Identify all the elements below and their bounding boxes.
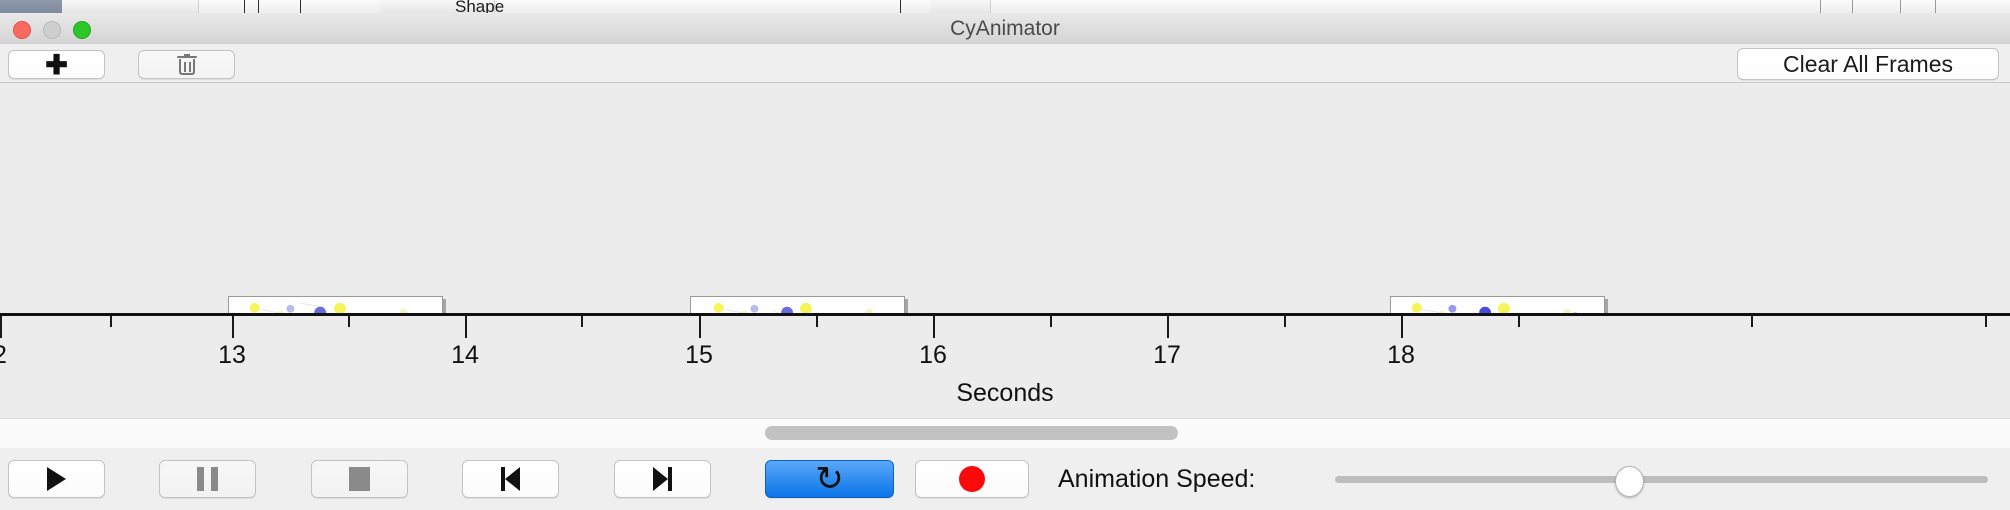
frame-thumbnail-3[interactable]: MCM1 [1390, 296, 1605, 313]
toolbar: ✚ Clear All Frames [0, 44, 2010, 83]
ruler-minor-tick [816, 316, 818, 327]
ruler-minor-tick [348, 316, 350, 327]
ruler-tick-label: 17 [1153, 341, 1181, 370]
clear-all-frames-button[interactable]: Clear All Frames [1737, 48, 1999, 80]
trash-icon [177, 54, 197, 76]
slider-knob[interactable] [1615, 466, 1644, 497]
skip-forward-button[interactable] [614, 460, 711, 498]
delete-frame-button[interactable] [138, 50, 235, 79]
stop-icon [349, 467, 370, 491]
background-divider [258, 0, 259, 13]
network-thumbnail-image: MCM1 [229, 297, 442, 313]
background-divider [900, 0, 901, 13]
ruler-minor-tick [1985, 316, 1987, 327]
scrollbar-thumb[interactable] [765, 426, 1178, 440]
background-window: Shape [0, 0, 2010, 14]
ruler-tick-label: 15 [685, 341, 713, 370]
skip-back-icon [501, 467, 520, 491]
ruler-minor-tick [1751, 316, 1753, 327]
play-button[interactable] [8, 460, 105, 498]
cyanimator-window: Shape CyAnimator ✚ Clear All Frames [0, 0, 2010, 510]
ruler-minor-tick [1284, 316, 1286, 327]
ruler-tick-label: 2 [0, 341, 7, 370]
network-thumbnail-image: MCM1 [1391, 297, 1604, 313]
pause-icon [197, 467, 218, 491]
play-icon [47, 467, 66, 491]
background-divider [300, 0, 301, 13]
timeline-scrollbar[interactable] [0, 418, 2010, 449]
record-icon [959, 466, 985, 492]
stop-button[interactable] [311, 460, 408, 498]
animation-speed-label: Animation Speed: [1058, 460, 1255, 498]
slider-track[interactable] [1335, 476, 1988, 483]
timeline-track[interactable]: MCM1 [0, 83, 2010, 313]
skip-forward-icon [653, 467, 672, 491]
ruler-major-tick [1401, 316, 1403, 338]
ruler-tick-label: 18 [1387, 341, 1415, 370]
timeline-ruler: 2131415161718 Seconds [0, 313, 2010, 418]
ruler-minor-tick [1518, 316, 1520, 327]
ruler-axis-line [0, 313, 2010, 316]
title-bar: CyAnimator [0, 13, 2010, 45]
network-thumbnail-image: MCM1 [691, 297, 904, 313]
ruler-minor-tick [1050, 316, 1052, 327]
loop-icon: ↻ [815, 464, 844, 494]
window-title: CyAnimator [0, 13, 2010, 44]
frame-thumbnail-1[interactable]: MCM1 [228, 296, 443, 313]
ruler-tick-label: 14 [451, 341, 479, 370]
ruler-minor-tick [581, 316, 583, 327]
background-window-text: Shape [455, 0, 504, 14]
record-button[interactable] [915, 460, 1029, 498]
ruler-major-tick [699, 316, 701, 338]
ruler-axis-label: Seconds [0, 379, 2010, 408]
background-tab [930, 0, 991, 13]
ruler-tick-label: 13 [218, 341, 246, 370]
ruler-minor-tick [110, 316, 112, 327]
ruler-major-tick [0, 316, 2, 338]
skip-back-button[interactable] [462, 460, 559, 498]
background-tab [148, 0, 199, 13]
loop-button[interactable]: ↻ [765, 460, 894, 498]
background-tab [0, 0, 63, 13]
clear-all-frames-label: Clear All Frames [1783, 51, 1953, 78]
add-frame-button[interactable]: ✚ [8, 50, 105, 79]
frame-thumbnail-2[interactable]: MCM1 [690, 296, 905, 313]
animation-speed-slider[interactable] [1335, 460, 1988, 498]
ruler-major-tick [933, 316, 935, 338]
ruler-major-tick [465, 316, 467, 338]
pause-button[interactable] [159, 460, 256, 498]
playback-controls: ↻ Animation Speed: [0, 448, 2010, 510]
ruler-tick-label: 16 [919, 341, 947, 370]
ruler-major-tick [232, 316, 234, 338]
background-tab [62, 0, 149, 13]
ruler-major-tick [1167, 316, 1169, 338]
background-divider [244, 0, 245, 13]
